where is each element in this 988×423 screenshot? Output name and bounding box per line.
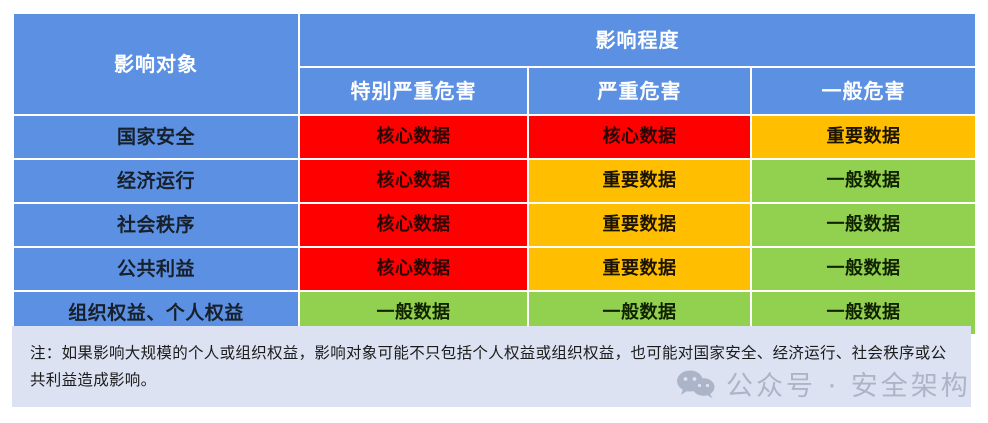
row-label-economic-operation: 经济运行 — [14, 160, 298, 202]
cell-r3-c1: 重要数据 — [529, 248, 750, 290]
table-row: 经济运行 核心数据 重要数据 一般数据 — [14, 160, 975, 202]
cell-r0-c1: 核心数据 — [529, 116, 750, 158]
cell-r2-c1: 重要数据 — [529, 204, 750, 246]
footnote-band: 注：如果影响大规模的个人或组织权益，影响对象可能不只包括个人权益或组织权益，也可… — [12, 326, 971, 407]
cell-r1-c1: 重要数据 — [529, 160, 750, 202]
cell-r3-c0: 核心数据 — [300, 248, 527, 290]
row-label-public-interest: 公共利益 — [14, 248, 298, 290]
row-label-national-security: 国家安全 — [14, 116, 298, 158]
cell-r0-c2: 重要数据 — [752, 116, 975, 158]
header-severity-especially-serious: 特别严重危害 — [300, 68, 527, 114]
table-row: 公共利益 核心数据 重要数据 一般数据 — [14, 248, 975, 290]
page-root: 影响对象 影响程度 特别严重危害 严重危害 一般危害 国家安全 核心数据 核心数… — [0, 0, 988, 423]
cell-r0-c0: 核心数据 — [300, 116, 527, 158]
cell-r1-c2: 一般数据 — [752, 160, 975, 202]
header-impact-object: 影响对象 — [14, 14, 298, 114]
row-label-social-order: 社会秩序 — [14, 204, 298, 246]
cell-r1-c0: 核心数据 — [300, 160, 527, 202]
header-impact-degree: 影响程度 — [300, 14, 975, 66]
header-severity-general: 一般危害 — [752, 68, 975, 114]
table-row: 社会秩序 核心数据 重要数据 一般数据 — [14, 204, 975, 246]
table-header-row-top: 影响对象 影响程度 — [14, 14, 975, 66]
header-severity-serious: 严重危害 — [529, 68, 750, 114]
table-row: 国家安全 核心数据 核心数据 重要数据 — [14, 116, 975, 158]
cell-r3-c2: 一般数据 — [752, 248, 975, 290]
cell-r2-c0: 核心数据 — [300, 204, 527, 246]
data-classification-matrix: 影响对象 影响程度 特别严重危害 严重危害 一般危害 国家安全 核心数据 核心数… — [12, 12, 977, 336]
cell-r2-c2: 一般数据 — [752, 204, 975, 246]
footnote-text: 注：如果影响大规模的个人或组织权益，影响对象可能不只包括个人权益或组织权益，也可… — [30, 340, 953, 394]
